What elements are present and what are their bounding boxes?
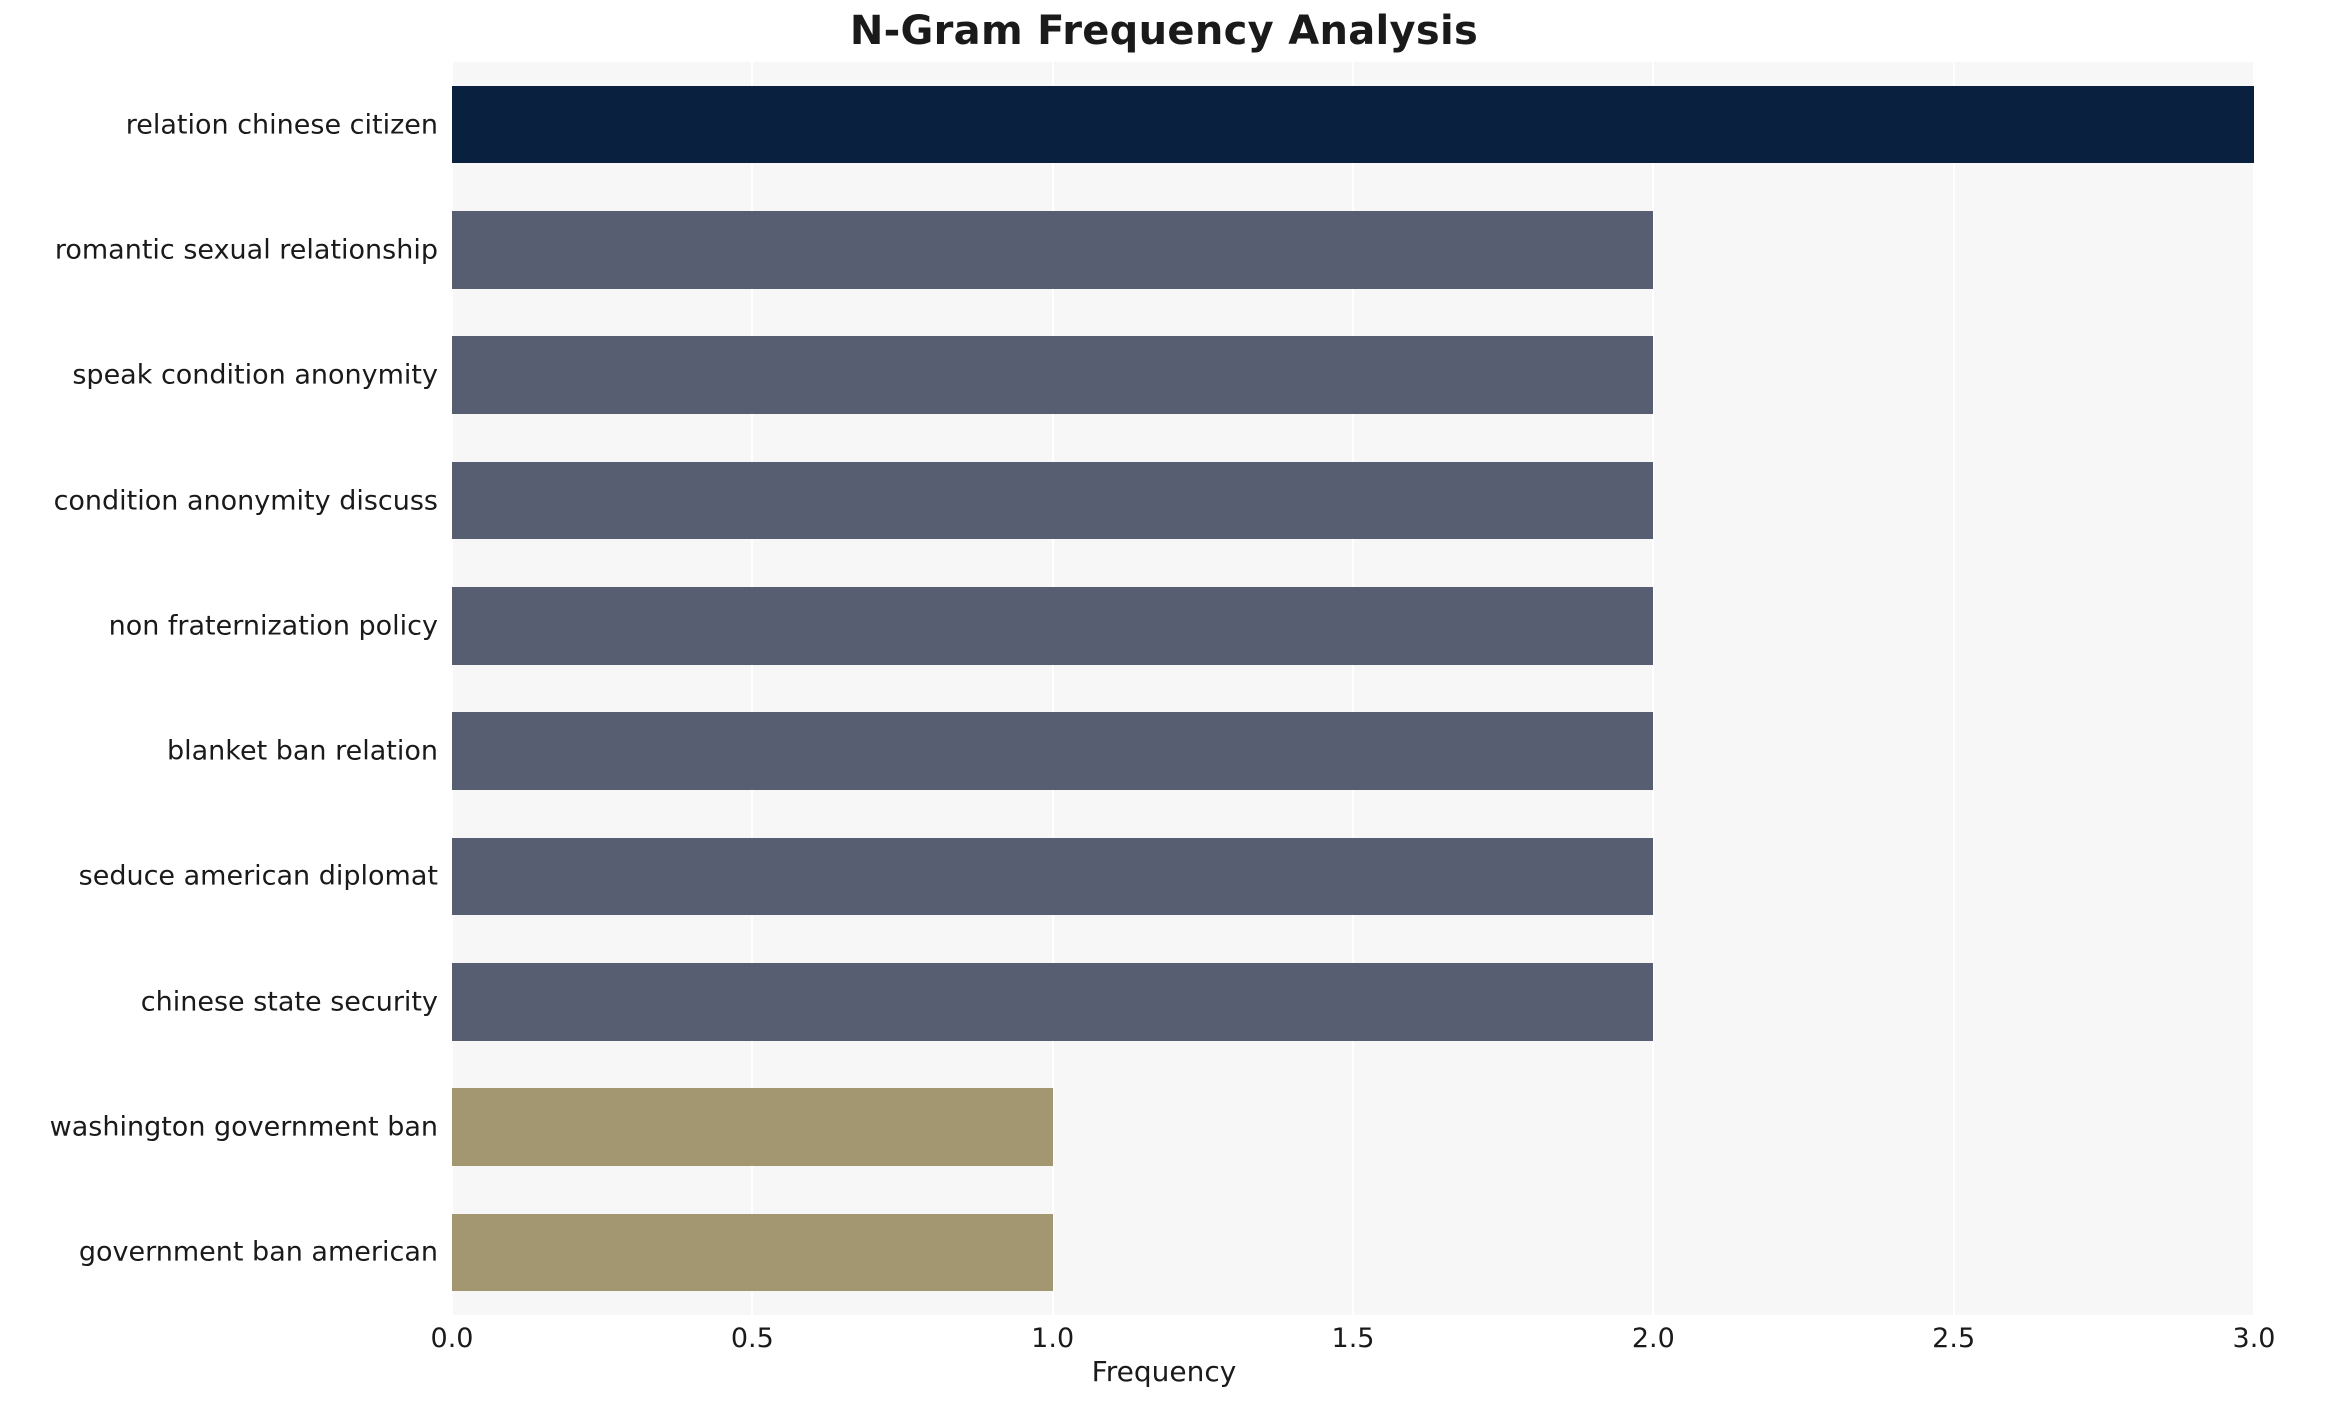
x-tick-label: 2.0: [1632, 1323, 1675, 1354]
chart-container: N-Gram Frequency Analysis relation chine…: [0, 0, 2328, 1402]
y-tick-label: washington government ban: [50, 1112, 438, 1143]
x-tick-label: 3.0: [2233, 1323, 2276, 1354]
y-tick-label: seduce american diplomat: [79, 861, 438, 892]
x-tick-label: 1.0: [1031, 1323, 1074, 1354]
y-axis-tick-labels: relation chinese citizenromantic sexual …: [0, 62, 2328, 1315]
y-tick-label: non fraternization policy: [109, 610, 438, 641]
x-tick-label: 1.5: [1332, 1323, 1375, 1354]
x-tick-label: 2.5: [1932, 1323, 1975, 1354]
x-tick-label: 0.5: [731, 1323, 774, 1354]
y-tick-label: blanket ban relation: [167, 736, 438, 767]
y-tick-label: government ban american: [79, 1237, 438, 1268]
x-axis-title: Frequency: [0, 1355, 2328, 1388]
chart-title: N-Gram Frequency Analysis: [0, 8, 2328, 54]
y-tick-label: condition anonymity discuss: [54, 485, 438, 516]
y-tick-label: speak condition anonymity: [72, 360, 438, 391]
y-tick-label: chinese state security: [141, 986, 438, 1017]
y-tick-label: romantic sexual relationship: [55, 234, 438, 265]
y-tick-label: relation chinese citizen: [126, 109, 438, 140]
x-tick-label: 0.0: [431, 1323, 474, 1354]
